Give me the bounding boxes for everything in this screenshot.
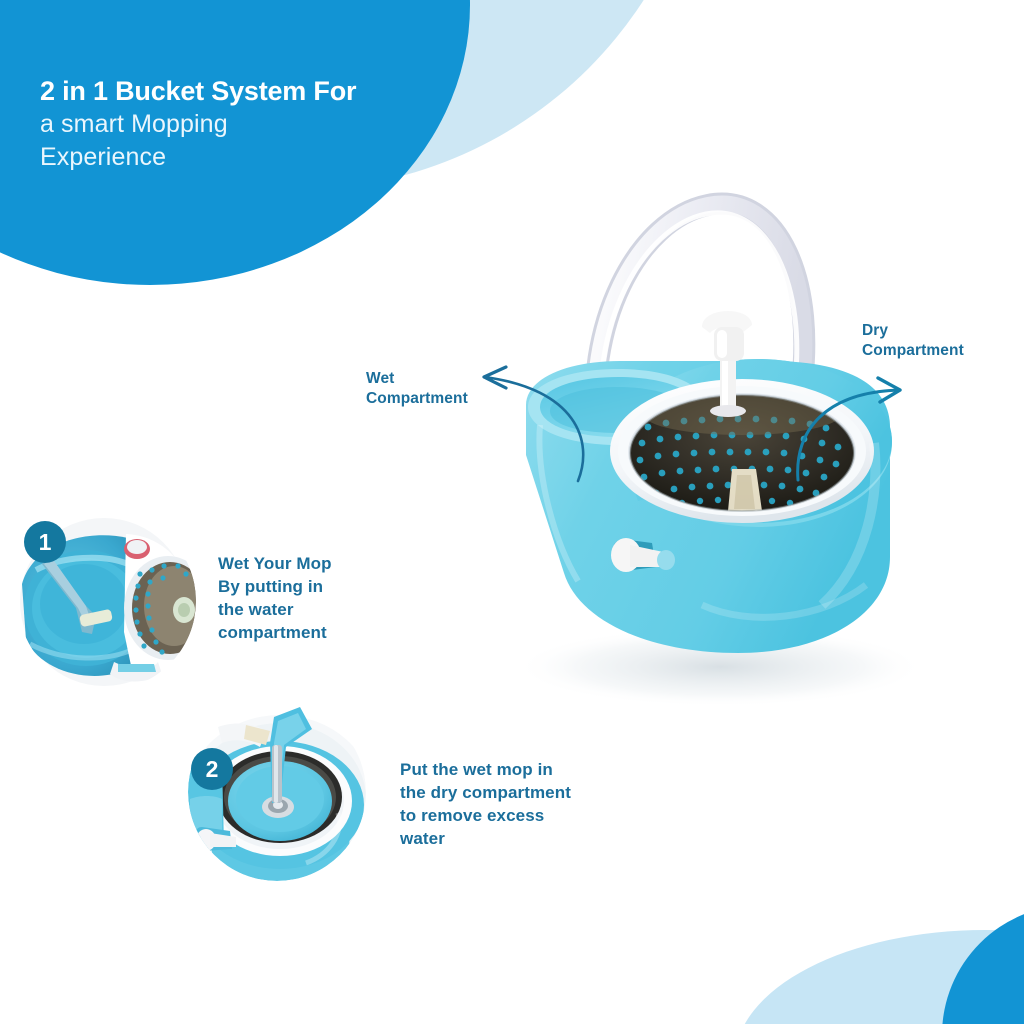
step-2-photo — [188, 703, 366, 881]
step-1-number: 1 — [39, 531, 52, 554]
step-2-line-3: to remove excess — [400, 804, 630, 827]
callout-wet-line-1: Wet — [366, 369, 526, 389]
page-title: 2 in 1 Bucket System For a smart Mopping… — [40, 74, 470, 174]
callout-dry-compartment: Dry Compartment — [862, 321, 1022, 361]
callout-wet-line-2: Compartment — [366, 389, 526, 409]
step-2-number: 2 — [206, 758, 219, 781]
step-1-text: Wet Your Mop By putting in the water com… — [218, 552, 408, 644]
callout-wet-compartment: Wet Compartment — [366, 369, 526, 409]
spin-mop-bucket-illustration — [470, 175, 940, 715]
step-2-line-4: water — [400, 827, 630, 850]
step-2-line-2: the dry compartment — [400, 781, 630, 804]
step-1-line-4: compartment — [218, 621, 408, 644]
title-line-2: a smart Mopping — [40, 108, 470, 141]
title-line-1: 2 in 1 Bucket System For — [40, 74, 470, 108]
callout-dry-line-1: Dry — [862, 321, 1022, 341]
step-2-text: Put the wet mop in the dry compartment t… — [400, 758, 630, 850]
footer-dark-blob — [942, 905, 1024, 1024]
step-2-badge: 2 — [191, 748, 233, 790]
step-2-line-1: Put the wet mop in — [400, 758, 630, 781]
callout-dry-line-2: Compartment — [862, 341, 1022, 361]
step-2-bucket-photo-illustration — [188, 703, 366, 881]
step-1-badge: 1 — [24, 521, 66, 563]
infographic-page: 2 in 1 Bucket System For a smart Mopping… — [0, 0, 1024, 1024]
product-image — [470, 175, 940, 715]
step-1-line-2: By putting in — [218, 575, 408, 598]
step-1-line-3: the water — [218, 598, 408, 621]
title-line-3: Experience — [40, 141, 470, 174]
step-1-line-1: Wet Your Mop — [218, 552, 408, 575]
footer-light-blob — [735, 930, 1024, 1024]
